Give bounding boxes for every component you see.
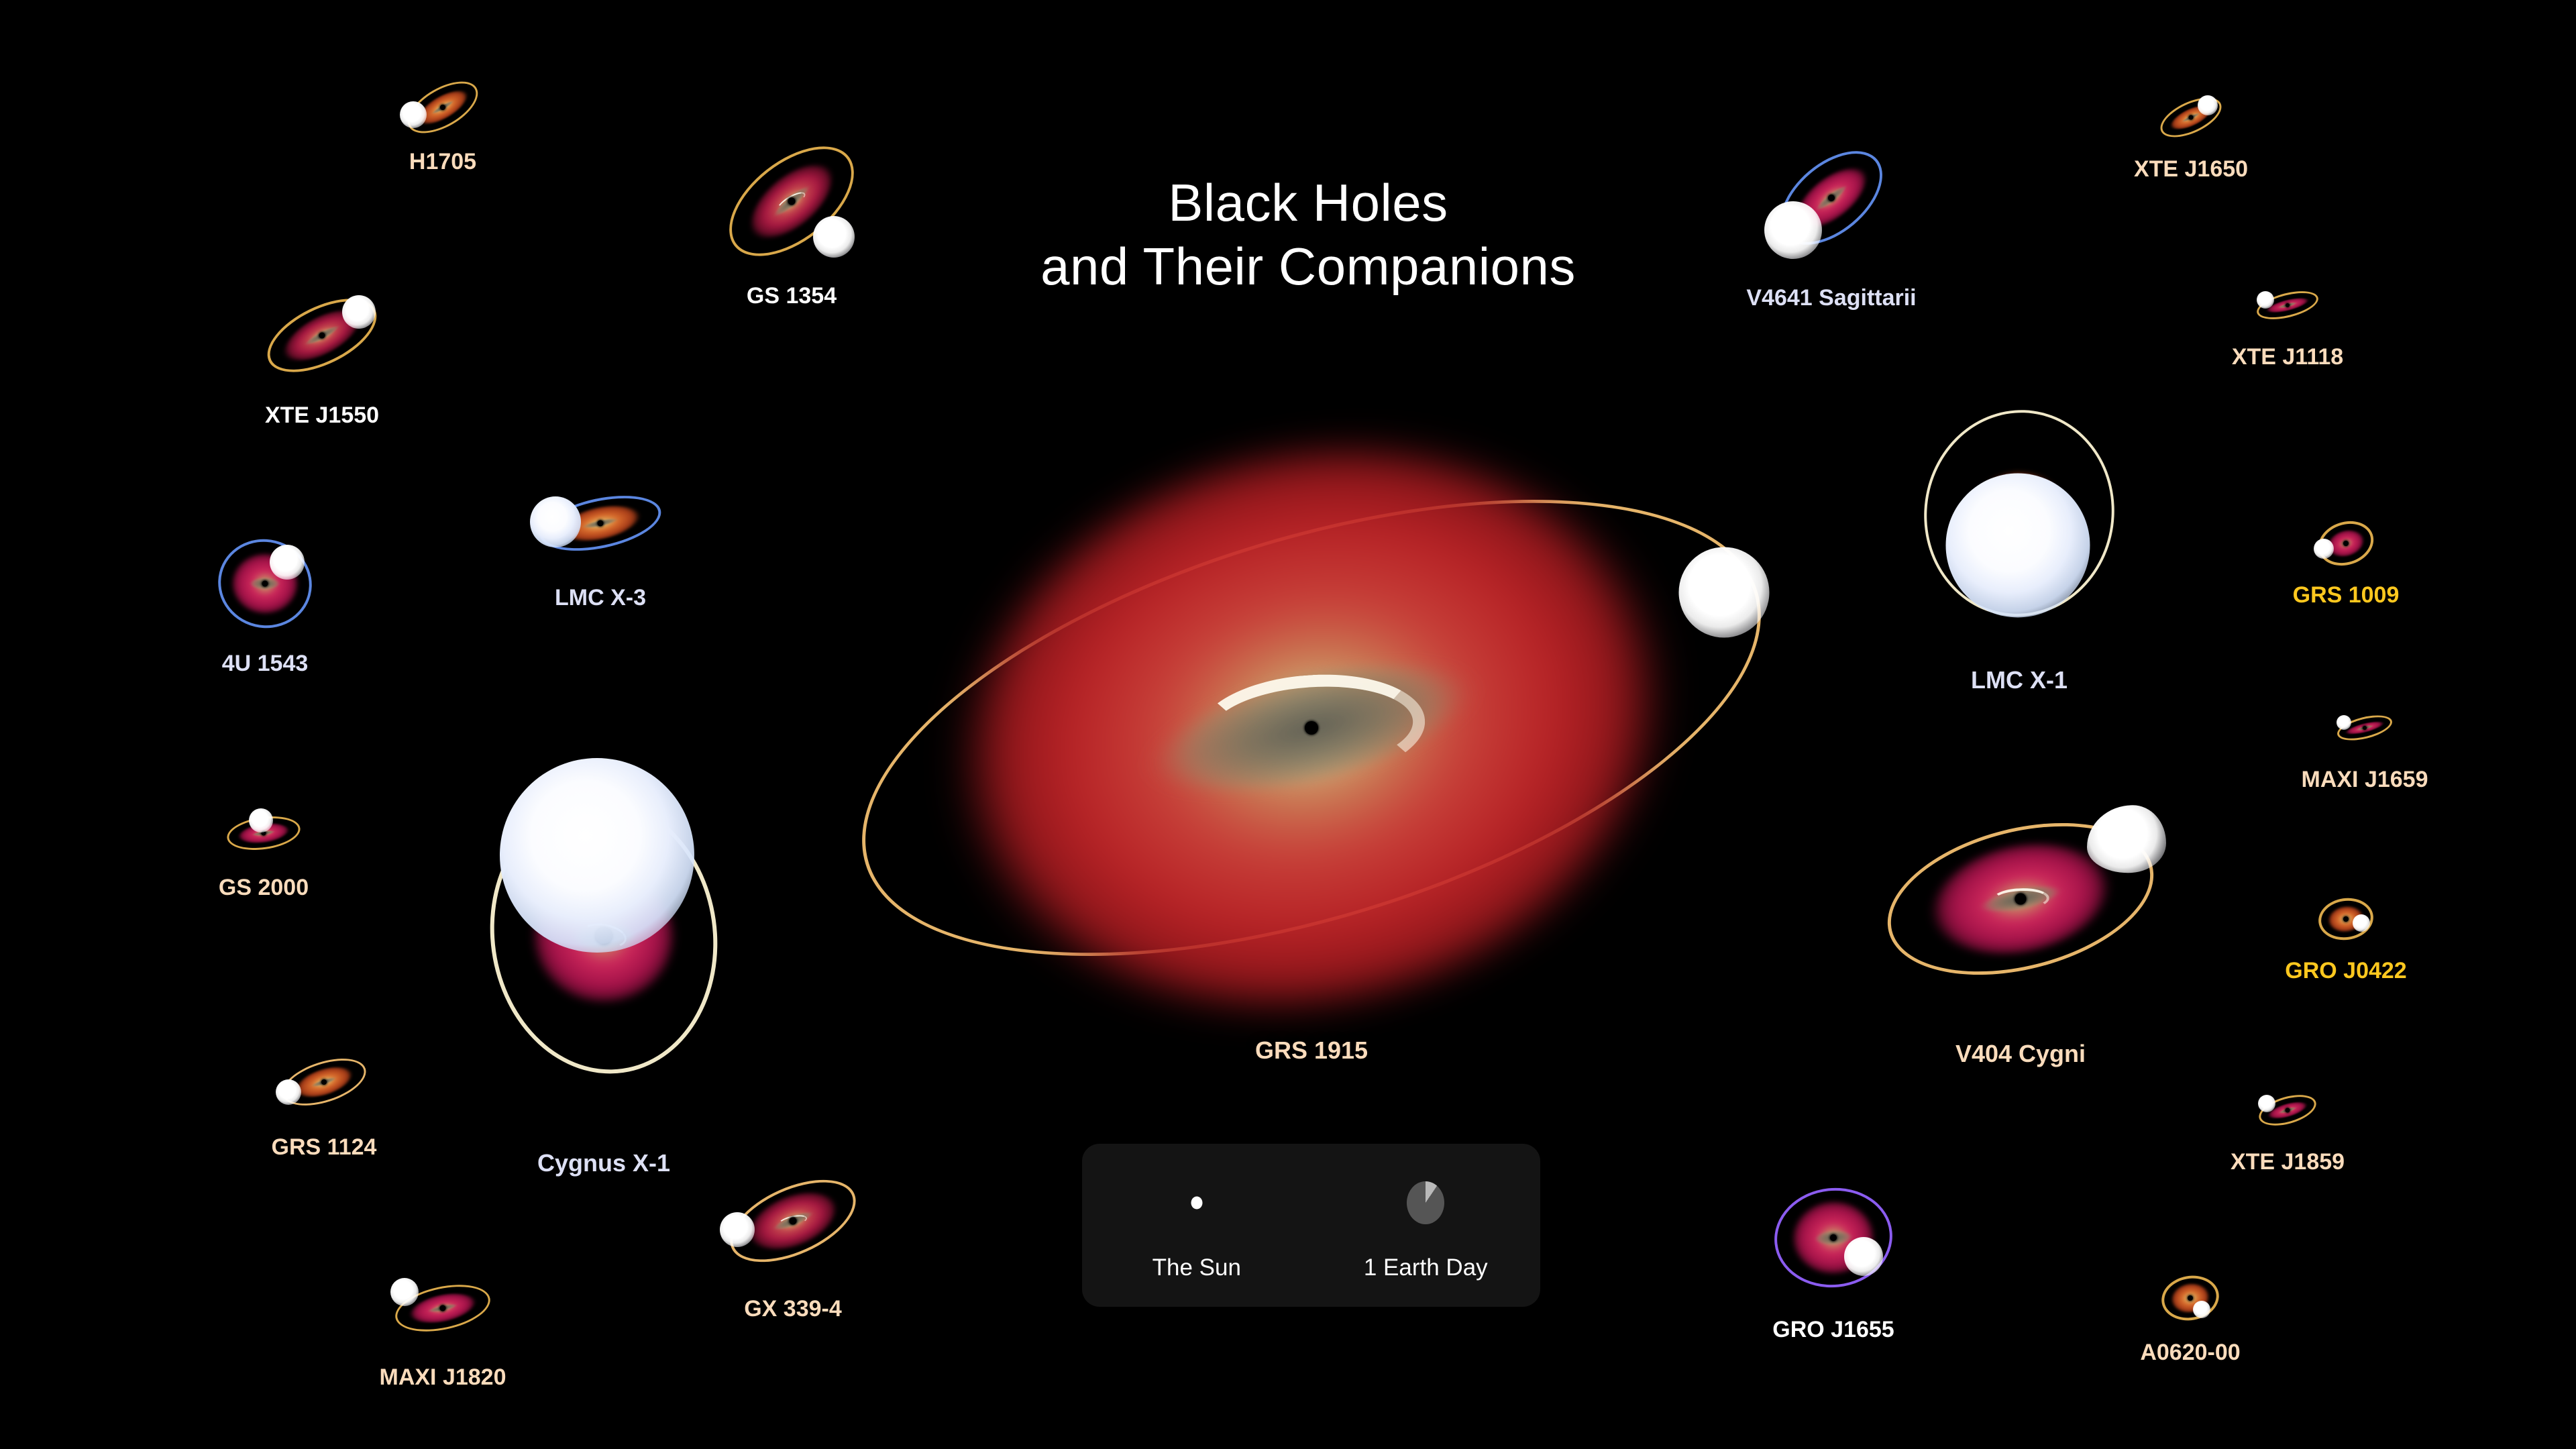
black-hole xyxy=(319,333,325,339)
companion-star xyxy=(813,216,855,258)
sun-dot-icon xyxy=(1191,1197,1202,1210)
companion-star xyxy=(1764,201,1822,259)
companion-star xyxy=(2198,95,2218,115)
system-lmcx3[interactable]: LMC X-3 xyxy=(530,476,671,570)
black-hole xyxy=(2343,541,2349,546)
system-label: 4U 1543 xyxy=(222,651,309,677)
system-artwork xyxy=(2309,892,2383,946)
system-maxij1659[interactable]: MAXI J1659 xyxy=(2328,701,2402,755)
legend-item-sun: The Sun xyxy=(1082,1144,1311,1307)
system-artwork xyxy=(470,748,738,1124)
black-hole xyxy=(2286,303,2290,307)
system-label: XTE J1650 xyxy=(2134,156,2248,182)
starfield-canvas: Black Holes and Their Companions H1705GS… xyxy=(0,0,2576,1449)
companion-star xyxy=(400,101,427,128)
system-artwork xyxy=(2309,517,2383,570)
system-label: LMC X-3 xyxy=(555,585,646,611)
system-label: XTE J1859 xyxy=(2231,1149,2345,1175)
black-hole xyxy=(2343,916,2349,922)
black-hole xyxy=(2363,726,2367,730)
companion-star xyxy=(2314,539,2334,559)
companion-star xyxy=(2258,1095,2275,1112)
system-grs1915[interactable]: GRS 1915 xyxy=(835,456,1788,1000)
system-artwork xyxy=(208,530,322,637)
system-artwork xyxy=(530,476,671,570)
legend-item-earth-day: 1 Earth Day xyxy=(1311,1144,1541,1307)
system-label: A0620-00 xyxy=(2140,1340,2240,1366)
black-hole xyxy=(321,1079,327,1085)
system-label: MAXI J1659 xyxy=(2302,767,2428,793)
black-hole xyxy=(2189,115,2194,120)
system-artwork xyxy=(2251,278,2324,332)
system-v404cygni[interactable]: V404 Cygni xyxy=(1866,775,2175,1023)
black-hole xyxy=(440,105,445,110)
black-hole xyxy=(262,581,268,587)
companion-star xyxy=(2337,715,2351,730)
system-gx3394[interactable]: GX 339-4 xyxy=(716,1164,870,1278)
system-artwork xyxy=(402,77,483,138)
black-hole xyxy=(2015,894,2027,905)
system-lmcx1[interactable]: LMC X-1 xyxy=(1912,379,2127,647)
system-label: XTE J1550 xyxy=(265,402,379,429)
system-artwork xyxy=(2251,1083,2324,1137)
companion-star xyxy=(2087,805,2166,873)
companion-star xyxy=(1679,547,1770,638)
black-hole xyxy=(1830,1234,1837,1241)
system-label: GRO J0422 xyxy=(2285,958,2406,984)
system-artwork xyxy=(258,285,386,386)
companion-star xyxy=(276,1079,301,1105)
black-hole xyxy=(2286,1108,2290,1113)
system-label: V404 Cygni xyxy=(1955,1040,2086,1068)
black-hole xyxy=(1305,721,1318,735)
system-artwork xyxy=(1756,1177,1911,1298)
companion-star xyxy=(500,758,694,953)
system-artwork xyxy=(386,1268,500,1348)
system-xtej1118[interactable]: XTE J1118 xyxy=(2251,278,2324,332)
system-label: GRS 1915 xyxy=(1255,1036,1368,1065)
companion-star xyxy=(249,808,273,833)
companion-star xyxy=(390,1278,419,1306)
system-artwork xyxy=(835,456,1788,1000)
system-artwork xyxy=(716,1164,870,1278)
system-label: GRO J1655 xyxy=(1772,1317,1894,1343)
black-hole xyxy=(790,1218,797,1225)
black-hole xyxy=(2188,1295,2193,1301)
system-artwork xyxy=(2328,701,2402,755)
system-label: Cygnus X-1 xyxy=(537,1149,670,1177)
companion-star xyxy=(720,1212,755,1247)
system-a062000[interactable]: A0620-00 xyxy=(2153,1268,2227,1328)
system-label: LMC X-1 xyxy=(1971,666,2068,694)
system-xtej1550[interactable]: XTE J1550 xyxy=(258,285,386,386)
system-label: H1705 xyxy=(409,149,476,175)
black-hole xyxy=(1828,195,1835,201)
companion-star xyxy=(530,496,581,547)
system-gs2000[interactable]: GS 2000 xyxy=(223,803,304,863)
system-label: GRS 1009 xyxy=(2293,582,2400,608)
system-label: V4641 Sagittarii xyxy=(1746,285,1916,311)
system-cygnusx1[interactable]: Cygnus X-1 xyxy=(470,748,738,1124)
system-xtej1859[interactable]: XTE J1859 xyxy=(2251,1083,2324,1137)
system-artwork xyxy=(2154,91,2228,144)
system-label: MAXI J1820 xyxy=(380,1364,506,1391)
system-artwork xyxy=(2153,1268,2227,1328)
system-v4641sgr[interactable]: V4641 Sagittarii xyxy=(1754,131,1909,265)
system-artwork xyxy=(1754,131,1909,265)
system-maxij1820[interactable]: MAXI J1820 xyxy=(386,1268,500,1348)
system-label: GS 1354 xyxy=(747,283,837,309)
system-artwork xyxy=(274,1045,374,1119)
system-label: GS 2000 xyxy=(219,875,309,901)
system-artwork xyxy=(1912,379,2127,647)
system-artwork xyxy=(1866,775,2175,1023)
system-groj0422[interactable]: GRO J0422 xyxy=(2309,892,2383,946)
legend-label-earth-day: 1 Earth Day xyxy=(1364,1254,1488,1281)
system-h1705[interactable]: H1705 xyxy=(402,77,483,138)
companion-star xyxy=(1844,1237,1883,1276)
system-artwork xyxy=(223,803,304,863)
companion-star xyxy=(342,295,376,329)
system-grs1009[interactable]: GRS 1009 xyxy=(2309,517,2383,570)
page-title: Black Holes and Their Companions xyxy=(1033,171,1583,299)
system-artwork xyxy=(714,138,869,265)
system-groj1655[interactable]: GRO J1655 xyxy=(1756,1177,1911,1298)
black-hole xyxy=(440,1305,446,1311)
companion-star xyxy=(2353,914,2370,932)
companion-star xyxy=(270,545,305,580)
system-label: GX 339-4 xyxy=(744,1296,842,1322)
legend-panel: The Sun 1 Earth Day xyxy=(1082,1144,1540,1307)
system-xtej1650[interactable]: XTE J1650 xyxy=(2154,91,2228,144)
black-hole xyxy=(788,198,796,205)
earth-day-pie-icon xyxy=(1407,1181,1444,1224)
system-gs1354[interactable]: GS 1354 xyxy=(714,138,869,265)
companion-star xyxy=(2193,1301,2210,1318)
system-label: XTE J1118 xyxy=(2232,344,2343,370)
system-label: GRS 1124 xyxy=(272,1134,377,1161)
system-4u1543[interactable]: 4U 1543 xyxy=(208,530,322,637)
system-grs1124[interactable]: GRS 1124 xyxy=(274,1045,374,1119)
companion-star xyxy=(2257,291,2274,309)
black-hole xyxy=(598,521,604,527)
companion-star xyxy=(1946,474,2090,618)
legend-label-sun: The Sun xyxy=(1152,1254,1241,1281)
